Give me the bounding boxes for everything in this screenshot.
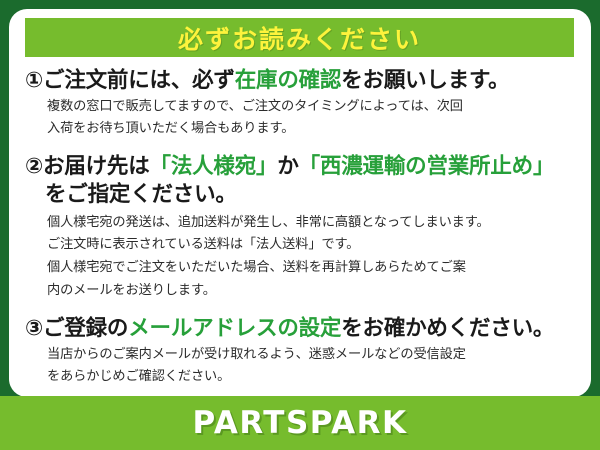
notice-banner: 必ずお読みください ①ご注文前には、必ず在庫の確認をお願いします。 複数の窓口で…: [0, 0, 600, 450]
notice-item-2: ②お届け先は「法人様宛」か「西濃運輸の営業所止め」 をご指定ください。 個人様宅…: [9, 153, 591, 301]
notice-item-1-heading-part-3: をお願いします。: [341, 68, 509, 93]
notice-panel: 必ずお読みください ①ご注文前には、必ず在庫の確認をお願いします。 複数の窓口で…: [9, 9, 591, 397]
notice-item-2-sub-line-2: ご注文時に表示されている送料は「法人送料」です。: [25, 236, 581, 255]
notice-body: ①ご注文前には、必ず在庫の確認をお願いします。 複数の窓口で販売してますので、ご…: [9, 65, 591, 397]
brand-logo-text: PARTSPARK: [192, 405, 407, 441]
header-title: 必ずお読みください: [178, 20, 421, 56]
notice-item-1-number: ①: [25, 68, 43, 93]
notice-item-2-number: ②: [25, 154, 43, 179]
notice-item-2-heading-highlight-2: 「西濃運輸の営業所止め」: [299, 154, 555, 179]
notice-item-2-heading-part-1: お届け先は: [43, 154, 150, 179]
notice-item-3-sub-line-2: をあらかじめご確認ください。: [25, 368, 581, 387]
notice-item-2-sub-line-1: 個人様宅宛の発送は、追加送料が発生し、非常に高額となってしまいます。: [25, 214, 581, 233]
notice-item-1-heading: ①ご注文前には、必ず在庫の確認をお願いします。: [25, 67, 581, 95]
notice-item-2-heading: ②お届け先は「法人様宛」か「西濃運輸の営業所止め」: [25, 153, 581, 181]
notice-item-2-heading-part-3: か: [277, 154, 298, 179]
notice-item-1-heading-highlight: 在庫の確認: [235, 68, 342, 93]
notice-item-2-heading-highlight-1: 「法人様宛」: [150, 154, 278, 179]
notice-item-2-heading-continuation: をご指定ください。: [25, 181, 581, 209]
header-bar: 必ずお読みください: [25, 18, 574, 57]
notice-item-3-number: ③: [25, 316, 43, 341]
notice-item-3-heading: ③ご登録のメールアドレスの設定をお確かめください。: [25, 315, 581, 343]
notice-item-3-sub-line-1: 当店からのご案内メールが受け取れるよう、迷惑メールなどの受信設定: [25, 346, 581, 365]
notice-item-3: ③ご登録のメールアドレスの設定をお確かめください。 当店からのご案内メールが受け…: [9, 315, 591, 387]
notice-item-1-heading-part-1: ご注文前には、必ず: [43, 68, 235, 93]
notice-item-3-heading-part-3: をお確かめください。: [341, 316, 554, 341]
notice-item-3-heading-part-1: ご登録の: [43, 316, 128, 341]
notice-item-1-sub-line-2: 入荷をお待ち頂いただく場合もあります。: [25, 120, 581, 139]
footer-brand-bar: PARTSPARK: [0, 396, 600, 450]
notice-item-3-heading-highlight: メールアドレスの設定: [128, 316, 341, 341]
notice-item-2-sub-line-3: 個人様宅宛でご注文をいただいた場合、送料を再計算しあらためてご案: [25, 259, 581, 278]
notice-item-1: ①ご注文前には、必ず在庫の確認をお願いします。 複数の窓口で販売してますので、ご…: [9, 67, 591, 139]
notice-item-2-sub-line-4: 内のメールをお送りします。: [25, 282, 581, 301]
notice-item-1-sub-line-1: 複数の窓口で販売してますので、ご注文のタイミングによっては、次回: [25, 98, 581, 117]
